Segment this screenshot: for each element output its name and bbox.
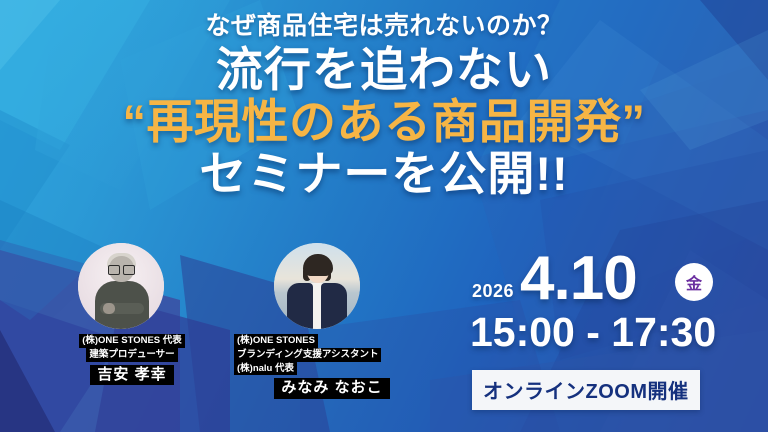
speaker-2-title-line: (株)nalu 代表: [234, 362, 297, 376]
speaker-2-titles: (株)ONE STONES ブランディング支援アシスタント (株)nalu 代表: [230, 334, 434, 375]
speaker-photo-yoshiyasu: [78, 243, 164, 329]
event-format-badge: オンラインZOOM開催: [472, 370, 700, 410]
speaker-photo-minami: [274, 243, 360, 329]
headline-block: なぜ商品住宅は売れないのか？ 流行を追わない “再現性のある商品開発” セミナー…: [0, 0, 768, 199]
speaker-2-title-line: (株)ONE STONES: [234, 334, 318, 348]
speaker-2: (株)ONE STONES ブランディング支援アシスタント (株)nalu 代表…: [230, 243, 434, 399]
headline-kicker: なぜ商品住宅は売れないのか？: [0, 13, 768, 41]
glasses-icon: [108, 265, 135, 273]
speaker-2-name: みなみ なおこ: [274, 378, 389, 398]
speaker-1-title-line: (株)ONE STONES 代表: [79, 334, 185, 348]
speakers-block: (株)ONE STONES 代表 建築プロデューサー 吉安 孝幸 (株)ONE …: [34, 243, 434, 432]
event-info-block: 2026 4.10 金 15:00 - 17:30 オンラインZOOM開催: [470, 252, 750, 427]
event-weekday-badge: 金: [675, 263, 713, 301]
event-date-row: 2026 4.10 金: [470, 252, 750, 314]
speaker-1-titles: (株)ONE STONES 代表 建築プロデューサー: [34, 334, 230, 362]
event-time: 15:00 - 17:30: [470, 312, 716, 353]
speaker-2-title-line: ブランディング支援アシスタント: [234, 348, 381, 362]
speaker-1-title-line: 建築プロデューサー: [86, 348, 177, 362]
seminar-banner: なぜ商品住宅は売れないのか？ 流行を追わない “再現性のある商品開発” セミナー…: [0, 0, 768, 432]
speaker-1: (株)ONE STONES 代表 建築プロデューサー 吉安 孝幸: [34, 243, 230, 385]
speaker-1-name: 吉安 孝幸: [90, 365, 173, 385]
event-year: 2026: [472, 281, 514, 302]
headline-line-3: セミナーを公開!!: [0, 149, 768, 199]
event-date: 4.10: [520, 248, 637, 310]
headline-line-1: 流行を追わない: [0, 45, 768, 95]
headline-line-2-highlight: “再現性のある商品開発”: [0, 97, 768, 147]
